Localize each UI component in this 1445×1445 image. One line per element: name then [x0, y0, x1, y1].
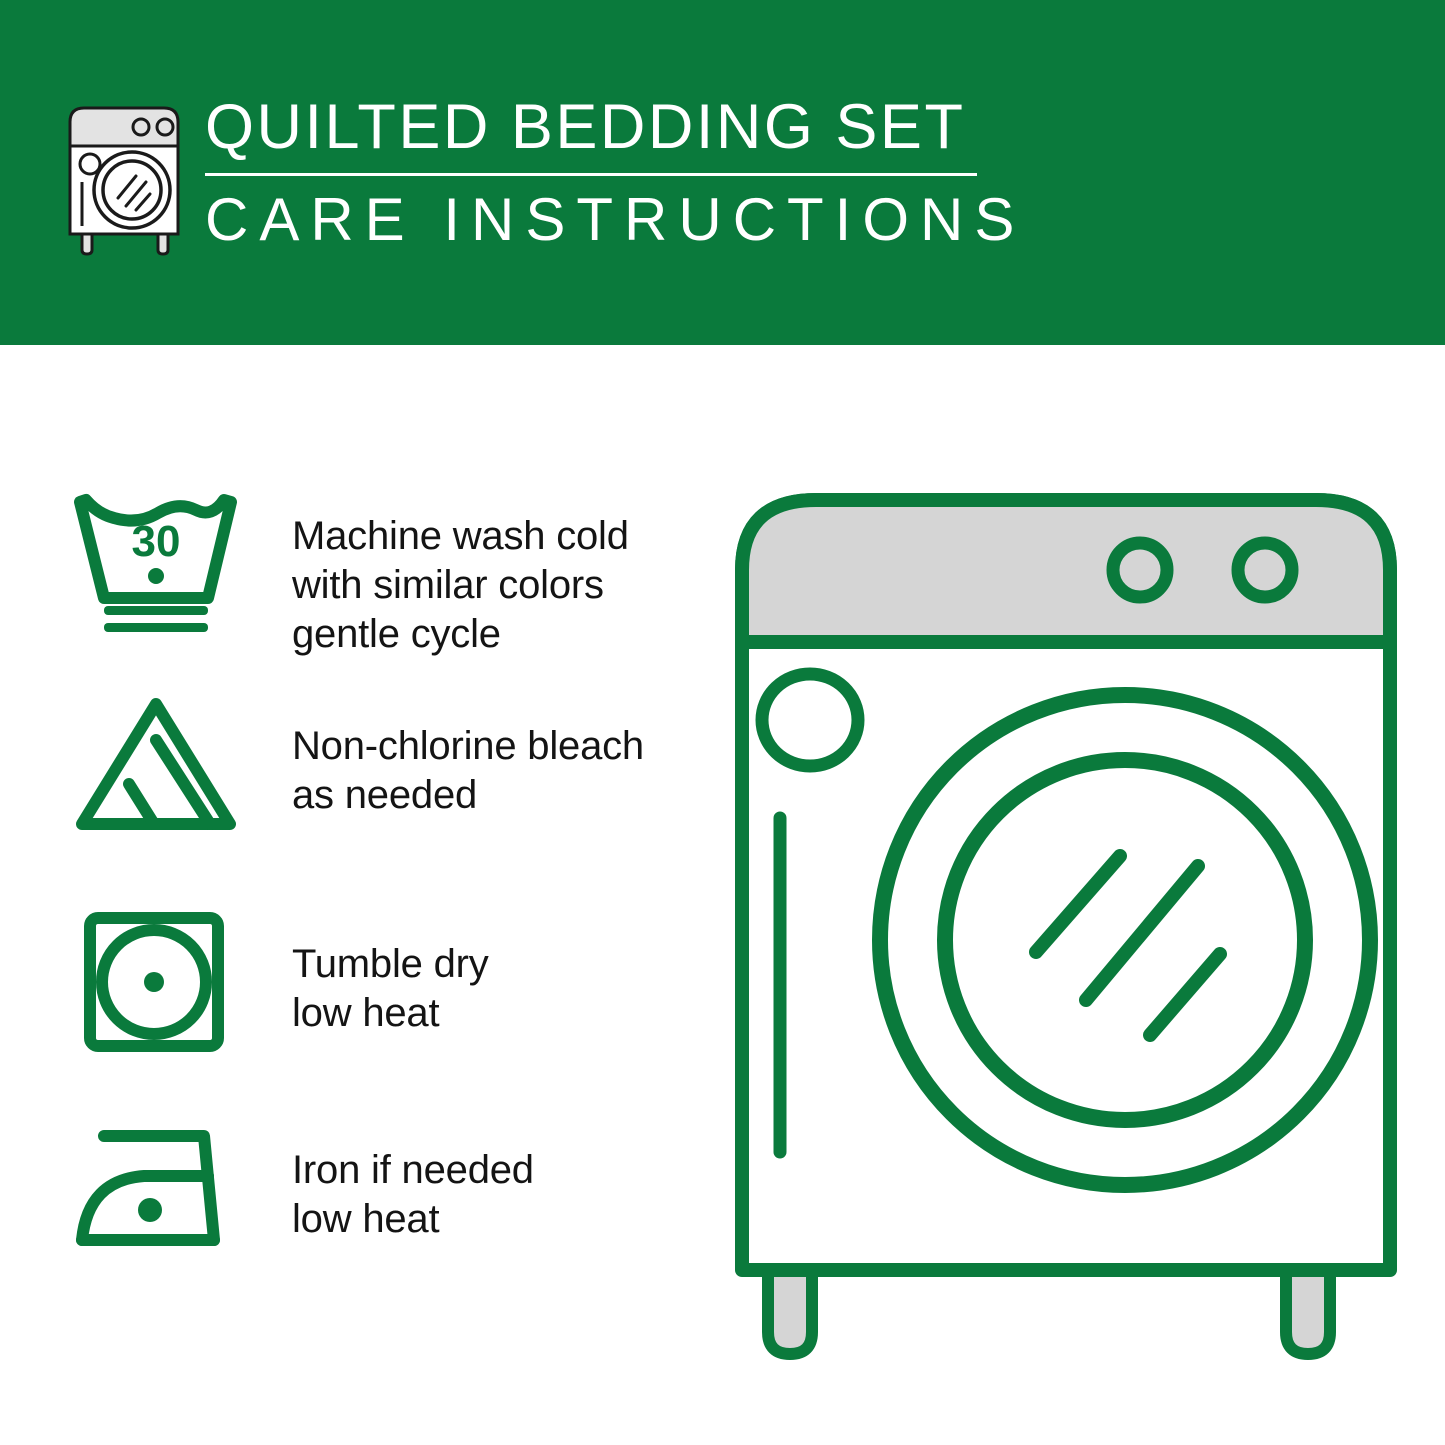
- front-load-washing-machine-illustration: [720, 470, 1420, 1370]
- instruction-line: low heat: [292, 1195, 708, 1244]
- instruction-line: Non-chlorine bleach: [292, 722, 708, 771]
- page-subtitle: CARE INSTRUCTIONS: [205, 190, 1005, 250]
- instruction-row-bleach: Non-chlorine bleach as needed: [68, 692, 708, 904]
- instruction-row-iron: Iron if needed low heat: [68, 1116, 708, 1328]
- header-banner: QUILTED BEDDING SET CARE INSTRUCTIONS: [0, 0, 1445, 345]
- instruction-line: as needed: [292, 771, 708, 820]
- wash-tub-30-gentle-icon: 30: [68, 480, 268, 655]
- instruction-text-machine-wash: Machine wash cold with similar colors ge…: [268, 480, 708, 658]
- instruction-line: Tumble dry: [292, 940, 708, 989]
- header-divider: [205, 173, 977, 176]
- tumble-dry-low-heat-icon: [68, 904, 268, 1079]
- instruction-line: low heat: [292, 989, 708, 1038]
- instruction-line: gentle cycle: [292, 610, 708, 659]
- wash-temperature-label: 30: [132, 517, 181, 566]
- iron-low-heat-icon: [68, 1116, 268, 1291]
- instruction-line: Iron if needed: [292, 1146, 708, 1195]
- instruction-text-iron: Iron if needed low heat: [268, 1116, 708, 1244]
- washing-machine-icon: [62, 98, 192, 258]
- instruction-row-machine-wash: 30 Machine wash cold with similar colors…: [68, 480, 708, 692]
- page-title: QUILTED BEDDING SET: [205, 96, 1005, 159]
- header-text-block: QUILTED BEDDING SET CARE INSTRUCTIONS: [205, 96, 1005, 250]
- non-chlorine-bleach-triangle-icon: [68, 692, 268, 867]
- instruction-row-tumble-dry: Tumble dry low heat: [68, 904, 708, 1116]
- care-instructions-infographic: QUILTED BEDDING SET CARE INSTRUCTIONS 30: [0, 0, 1445, 1445]
- instruction-text-bleach: Non-chlorine bleach as needed: [268, 692, 708, 820]
- instruction-line: Machine wash cold: [292, 512, 708, 561]
- instruction-text-tumble-dry: Tumble dry low heat: [268, 904, 708, 1038]
- instruction-list: 30 Machine wash cold with similar colors…: [68, 480, 708, 1328]
- instruction-line: with similar colors: [292, 561, 708, 610]
